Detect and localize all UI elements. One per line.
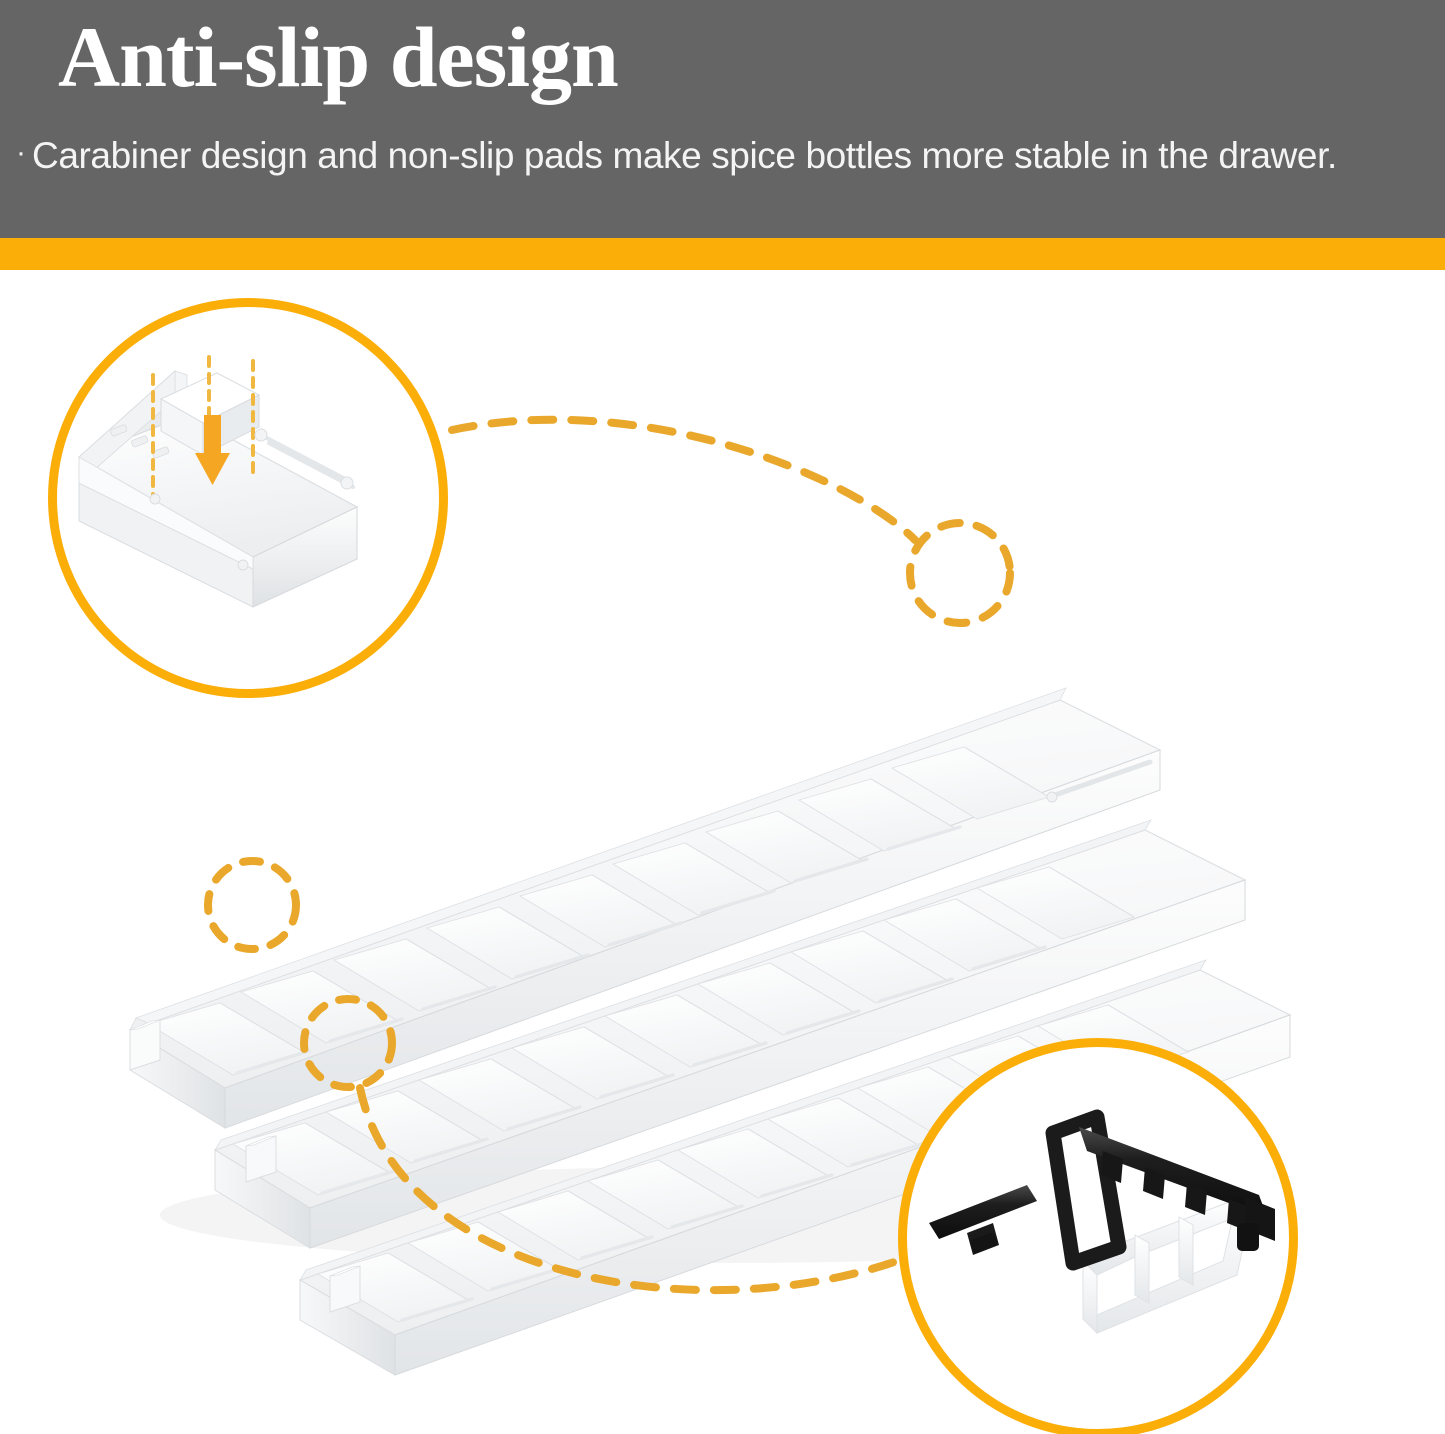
callout-carabiner-detail [48,298,448,698]
bullet-icon: · [16,130,26,176]
product-illustration-stage [0,270,1445,1434]
marker-rack-left-upper [208,861,296,949]
subtitle-text: Carabiner design and non-slip pads make … [32,130,1337,182]
accent-bar [0,238,1445,270]
marker-rack-top-right [910,523,1010,623]
page-title: Anti-slip design [58,14,618,100]
subtitle-block: · Carabiner design and non-slip pads mak… [16,130,1416,182]
connector-top [452,420,915,540]
header-band: Anti-slip design · Carabiner design and … [0,0,1445,238]
non-slip-pad-illustration [907,1047,1289,1429]
callout-non-slip-pad-detail [898,1038,1298,1434]
carabiner-detail-illustration [57,307,439,689]
